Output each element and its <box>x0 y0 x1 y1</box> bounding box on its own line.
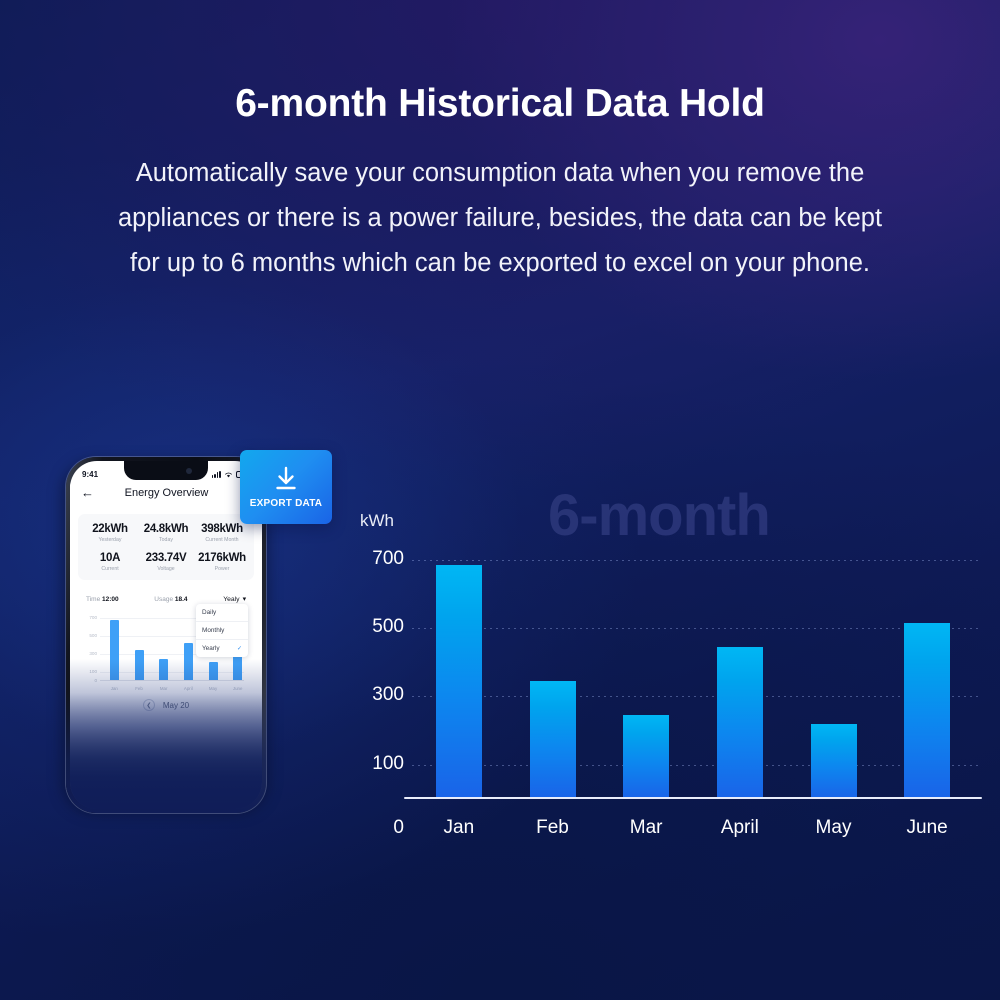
mini-chart-bar <box>209 662 218 681</box>
stats-row: 10A Current 233.74V Voltage 2176kWh Powe… <box>82 552 250 572</box>
stat-label: Current Month <box>194 537 250 543</box>
mini-x-tick-label: Jan <box>104 686 124 691</box>
chevron-left-icon[interactable]: ❮ <box>143 699 155 711</box>
download-arrow-icon <box>272 466 300 492</box>
period-option[interactable]: Yearly✓ <box>196 639 248 657</box>
stat-label: Current <box>82 566 138 572</box>
usage-label: Usage <box>154 596 173 603</box>
stat-label: Power <box>194 566 250 572</box>
stat-value: 22kWh <box>82 523 138 535</box>
y-axis-tick-label: 500 <box>352 616 404 638</box>
chart-bar <box>717 647 763 799</box>
mini-x-tick-label: May <box>203 686 223 691</box>
stat-power: 2176kWh Power <box>194 552 250 572</box>
front-camera-icon <box>186 468 192 474</box>
period-option-label: Monthly <box>202 627 224 634</box>
stat-today: 24.8kWh Today <box>138 523 194 543</box>
page-title: 6-month Historical Data Hold <box>0 82 1000 126</box>
app-screen-title: Energy Overview <box>125 487 209 499</box>
check-icon: ✓ <box>237 645 242 652</box>
cellular-signal-icon <box>212 471 221 478</box>
usage-chart-card: Time 12:00 Usage 18.4 Yealy ▾ DailyMonth… <box>78 587 254 715</box>
time-label: Time <box>86 596 100 603</box>
mini-chart-bar <box>159 659 168 681</box>
x-axis-tick-label: Feb <box>508 817 598 839</box>
usage-header: Time 12:00 Usage 18.4 Yealy ▾ <box>86 595 246 603</box>
period-select[interactable]: Yealy ▾ <box>223 595 246 603</box>
usage-readout: Usage 18.4 <box>154 596 187 603</box>
stat-voltage: 233.74V Voltage <box>138 552 194 572</box>
chart-plot-area <box>412 539 974 799</box>
mini-chart-bar <box>135 650 144 681</box>
period-selected-label: Yealy <box>223 596 239 603</box>
current-date-label: May 20 <box>163 701 189 710</box>
stat-value: 233.74V <box>138 552 194 564</box>
mini-x-tick-label: June <box>228 686 248 691</box>
stat-value: 2176kWh <box>194 552 250 564</box>
period-option-label: Daily <box>202 609 216 616</box>
subtitle-line-3: for up to 6 months which can be exported… <box>0 241 1000 286</box>
stat-label: Today <box>138 537 194 543</box>
back-arrow-icon[interactable]: ← <box>81 486 94 499</box>
x-axis-tick-label: April <box>695 817 785 839</box>
mini-gridline <box>100 672 244 673</box>
mini-y-zero-label: 0 <box>86 678 97 683</box>
mini-chart-bar <box>184 643 193 681</box>
stat-value: 10A <box>82 552 138 564</box>
stat-current: 10A Current <box>82 552 138 572</box>
mini-x-tick-label: Feb <box>129 686 149 691</box>
chart-bar <box>623 715 669 799</box>
y-axis-tick-label: 300 <box>352 684 404 706</box>
period-option[interactable]: Monthly <box>196 621 248 639</box>
export-data-label: EXPORT DATA <box>250 498 322 509</box>
stat-current-month: 398kWh Current Month <box>194 523 250 543</box>
chart-bar <box>436 565 482 799</box>
mini-x-tick-label: April <box>178 686 198 691</box>
mini-x-tick-label: Mar <box>154 686 174 691</box>
energy-bar-chart: kWh 700500300100 0 JanFebMarAprilMayJune <box>352 505 982 845</box>
wifi-icon <box>224 471 233 478</box>
header: 6-month Historical Data Hold Automatical… <box>0 0 1000 286</box>
phone-notch <box>124 461 208 480</box>
subtitle-line-2: appliances or there is a power failure, … <box>0 196 1000 241</box>
mini-y-tick-label: 700 <box>86 615 97 620</box>
stat-value: 24.8kWh <box>138 523 194 535</box>
period-option-label: Yearly <box>202 645 220 652</box>
time-readout: Time 12:00 <box>86 596 119 603</box>
time-value: 12:00 <box>102 596 119 603</box>
mini-y-tick-label: 300 <box>86 651 97 656</box>
period-dropdown-menu[interactable]: DailyMonthlyYearly✓ <box>196 604 248 657</box>
chart-bar <box>904 623 950 799</box>
stats-row: 22kWh Yesterday 24.8kWh Today 398kWh Cur… <box>82 523 250 543</box>
chart-bar <box>530 681 576 799</box>
y-axis-tick-label: 100 <box>352 753 404 775</box>
chart-bar <box>811 724 857 799</box>
chevron-down-icon: ▾ <box>243 595 246 603</box>
y-axis-zero-label: 0 <box>352 817 404 839</box>
stat-value: 398kWh <box>194 523 250 535</box>
x-axis-tick-label: Jan <box>414 817 504 839</box>
status-time: 9:41 <box>82 470 98 479</box>
phone-frame: 9:41 ← Energy Overview <box>66 457 266 813</box>
date-navigator: ❮ May 20 <box>86 699 246 711</box>
energy-stats-card: 22kWh Yesterday 24.8kWh Today 398kWh Cur… <box>78 514 254 580</box>
app-navbar: ← Energy Overview <box>70 483 262 508</box>
mini-y-tick-label: 100 <box>86 669 97 674</box>
x-axis-line <box>404 797 982 800</box>
usage-value: 18.4 <box>175 596 188 603</box>
page-subtitle: Automatically save your consumption data… <box>0 151 1000 286</box>
stat-label: Voltage <box>138 566 194 572</box>
subtitle-line-1: Automatically save your consumption data… <box>0 151 1000 196</box>
mini-y-tick-label: 500 <box>86 633 97 638</box>
x-axis-tick-label: Mar <box>601 817 691 839</box>
y-axis-unit-label: kWh <box>360 511 394 531</box>
mini-chart-axis <box>100 680 244 681</box>
x-axis-tick-label: June <box>882 817 972 839</box>
x-axis-tick-label: May <box>789 817 879 839</box>
export-data-button[interactable]: EXPORT DATA <box>240 450 332 524</box>
phone-screen: 9:41 ← Energy Overview <box>70 461 262 809</box>
period-option[interactable]: Daily <box>196 604 248 621</box>
stat-label: Yesterday <box>82 537 138 543</box>
mini-chart-bar <box>110 620 119 681</box>
y-axis-tick-label: 700 <box>352 548 404 570</box>
stat-yesterday: 22kWh Yesterday <box>82 523 138 543</box>
